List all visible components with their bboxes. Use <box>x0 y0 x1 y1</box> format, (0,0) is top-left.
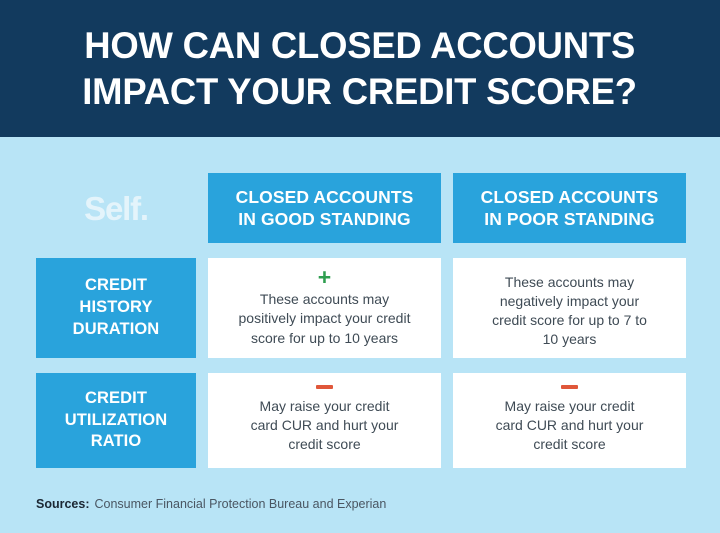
brand-logo: Self. <box>36 173 196 243</box>
sources-text: Consumer Financial Protection Bureau and… <box>95 497 387 511</box>
row-label-credit-history-duration: CREDIT HISTORY DURATION <box>36 258 196 358</box>
sources-footer: Sources: Consumer Financial Protection B… <box>36 497 386 511</box>
plus-icon: + <box>318 266 331 289</box>
page-title-line-2: IMPACT YOUR CREDIT SCORE? <box>83 69 638 114</box>
comparison-table: Self. CLOSED ACCOUNTS IN GOOD STANDING C… <box>36 173 685 468</box>
row-label-credit-utilization-ratio: CREDIT UTILIZATION RATIO <box>36 373 196 468</box>
table-header-row: Self. CLOSED ACCOUNTS IN GOOD STANDING C… <box>36 173 685 243</box>
minus-icon <box>316 385 333 389</box>
table-row: CREDIT HISTORY DURATION + These accounts… <box>36 258 685 358</box>
column-header-poor-standing-label: CLOSED ACCOUNTS IN POOR STANDING <box>481 186 659 231</box>
title-banner: HOW CAN CLOSED ACCOUNTS IMPACT YOUR CRED… <box>0 0 720 137</box>
sources-label: Sources: <box>36 497 90 511</box>
cell-utilization-good-standing-text: May raise your credit card CUR and hurt … <box>251 397 399 454</box>
infographic-canvas: HOW CAN CLOSED ACCOUNTS IMPACT YOUR CRED… <box>0 0 720 533</box>
brand-name: Self <box>84 190 140 227</box>
page-title-line-1: HOW CAN CLOSED ACCOUNTS <box>85 23 636 68</box>
row-label-credit-history-duration-text: CREDIT HISTORY DURATION <box>73 275 160 341</box>
column-header-poor-standing: CLOSED ACCOUNTS IN POOR STANDING <box>453 173 686 243</box>
cell-utilization-poor-standing: May raise your credit card CUR and hurt … <box>453 373 686 468</box>
self-wordmark: Self. <box>84 192 148 225</box>
cell-utilization-poor-standing-text: May raise your credit card CUR and hurt … <box>496 397 644 454</box>
cell-history-good-standing-text: These accounts may positively impact you… <box>239 290 411 347</box>
table-row: CREDIT UTILIZATION RATIO May raise your … <box>36 373 685 468</box>
cell-utilization-good-standing: May raise your credit card CUR and hurt … <box>208 373 441 468</box>
cell-history-poor-standing-text: These accounts may negatively impact you… <box>492 273 647 349</box>
row-label-credit-utilization-ratio-text: CREDIT UTILIZATION RATIO <box>65 388 168 454</box>
cell-history-good-standing: + These accounts may positively impact y… <box>208 258 441 358</box>
minus-icon <box>561 385 578 389</box>
cell-history-poor-standing: These accounts may negatively impact you… <box>453 258 686 358</box>
brand-dot: . <box>140 190 148 227</box>
column-header-good-standing: CLOSED ACCOUNTS IN GOOD STANDING <box>208 173 441 243</box>
column-header-good-standing-label: CLOSED ACCOUNTS IN GOOD STANDING <box>236 186 414 231</box>
